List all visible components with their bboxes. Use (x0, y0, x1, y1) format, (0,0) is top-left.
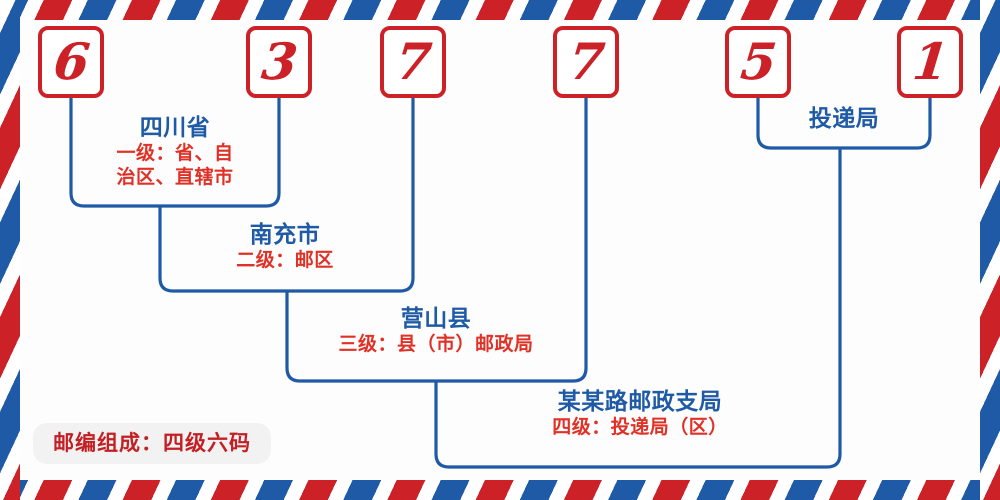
label-group-level-2: 南充市 二级：邮区 (185, 221, 385, 273)
delivery-office-title: 投递局 (768, 105, 920, 133)
digit-value-5: 5 (738, 37, 778, 87)
digit-box-5[interactable]: 5 (725, 26, 791, 98)
label-group-level-3: 营山县 三级：县（市）邮政局 (300, 305, 572, 357)
digit-value-2: 3 (259, 37, 299, 87)
level-1-subtitle: 一级：省、自 治区、直辖市 (75, 142, 275, 190)
level-2-title: 南充市 (185, 221, 385, 249)
digit-value-1: 6 (51, 37, 91, 87)
level-4-title: 某某路邮政支局 (485, 388, 795, 416)
digit-box-2[interactable]: 3 (246, 26, 312, 98)
label-group-level-4: 某某路邮政支局 四级：投递局（区） (485, 388, 795, 440)
level-2-subtitle: 二级：邮区 (185, 249, 385, 273)
digit-box-1[interactable]: 6 (38, 26, 104, 98)
digit-value-3: 7 (393, 37, 433, 87)
bracket-level-4 (436, 454, 840, 467)
legend-text: 邮编组成：四级六码 (53, 430, 251, 455)
digit-box-4[interactable]: 7 (553, 26, 619, 98)
level-4-subtitle: 四级：投递局（区） (485, 416, 795, 440)
level-3-title: 营山县 (300, 305, 572, 333)
digit-box-3[interactable]: 7 (380, 26, 446, 98)
legend-badge: 邮编组成：四级六码 (33, 423, 271, 464)
label-group-level-1: 四川省 一级：省、自 治区、直辖市 (75, 114, 275, 190)
level-3-subtitle: 三级：县（市）邮政局 (300, 333, 572, 357)
digit-value-6: 1 (910, 37, 950, 87)
digit-box-6[interactable]: 1 (897, 26, 963, 98)
label-group-delivery-office: 投递局 (768, 105, 920, 133)
level-1-title: 四川省 (75, 114, 275, 142)
digit-value-4: 7 (566, 37, 606, 87)
postal-code-diagram: 6 3 7 7 5 1 四川省 一级：省、自 治区、直辖市 南充市 二级：邮区 … (0, 0, 1000, 500)
